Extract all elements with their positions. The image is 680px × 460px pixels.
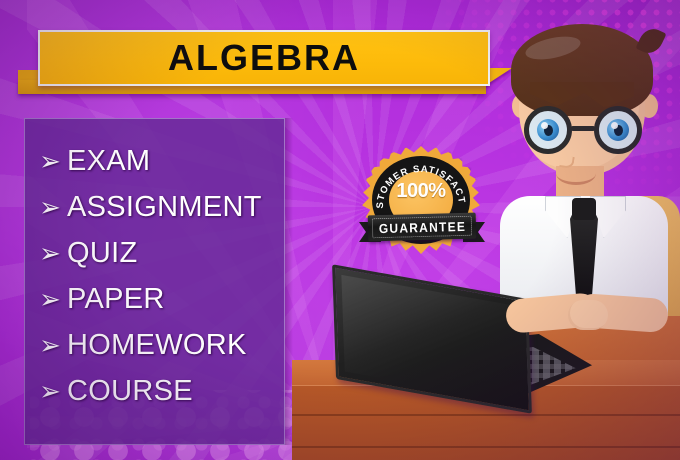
poster-canvas: ALGEBRA ➢ EXAM ➢ ASSIGNMENT ➢ QUIZ ➢ PAP…: [0, 0, 680, 460]
vignette-overlay: [0, 0, 680, 460]
